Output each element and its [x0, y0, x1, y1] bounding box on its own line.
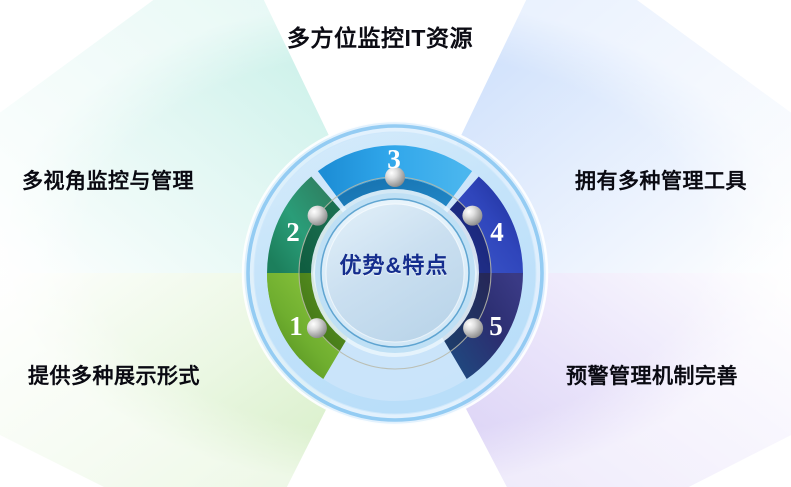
segment-bead-4	[462, 206, 482, 226]
wheel-graphic: 1 2 3 4 5	[0, 0, 791, 487]
segment-number-1: 1	[289, 311, 303, 341]
segment-bead-1	[307, 318, 327, 338]
label-right-lower: 预警管理机制完善	[566, 366, 738, 387]
segment-number-2: 2	[286, 217, 300, 247]
label-right-upper: 拥有多种管理工具	[575, 171, 747, 192]
segment-bead-2	[308, 206, 328, 226]
label-left-lower: 提供多种展示形式	[28, 366, 200, 387]
segment-bead-5	[463, 318, 483, 338]
label-top: 多方位监控IT资源	[287, 27, 473, 50]
label-left-upper: 多视角监控与管理	[22, 171, 194, 192]
segment-number-4: 4	[490, 217, 504, 247]
segment-number-5: 5	[489, 311, 503, 341]
segment-number-3: 3	[387, 144, 401, 174]
diagram-canvas: 1 2 3 4 5 优势&特点 多方位监控IT资源 多视角监控与管理 提供多种展…	[0, 0, 791, 487]
